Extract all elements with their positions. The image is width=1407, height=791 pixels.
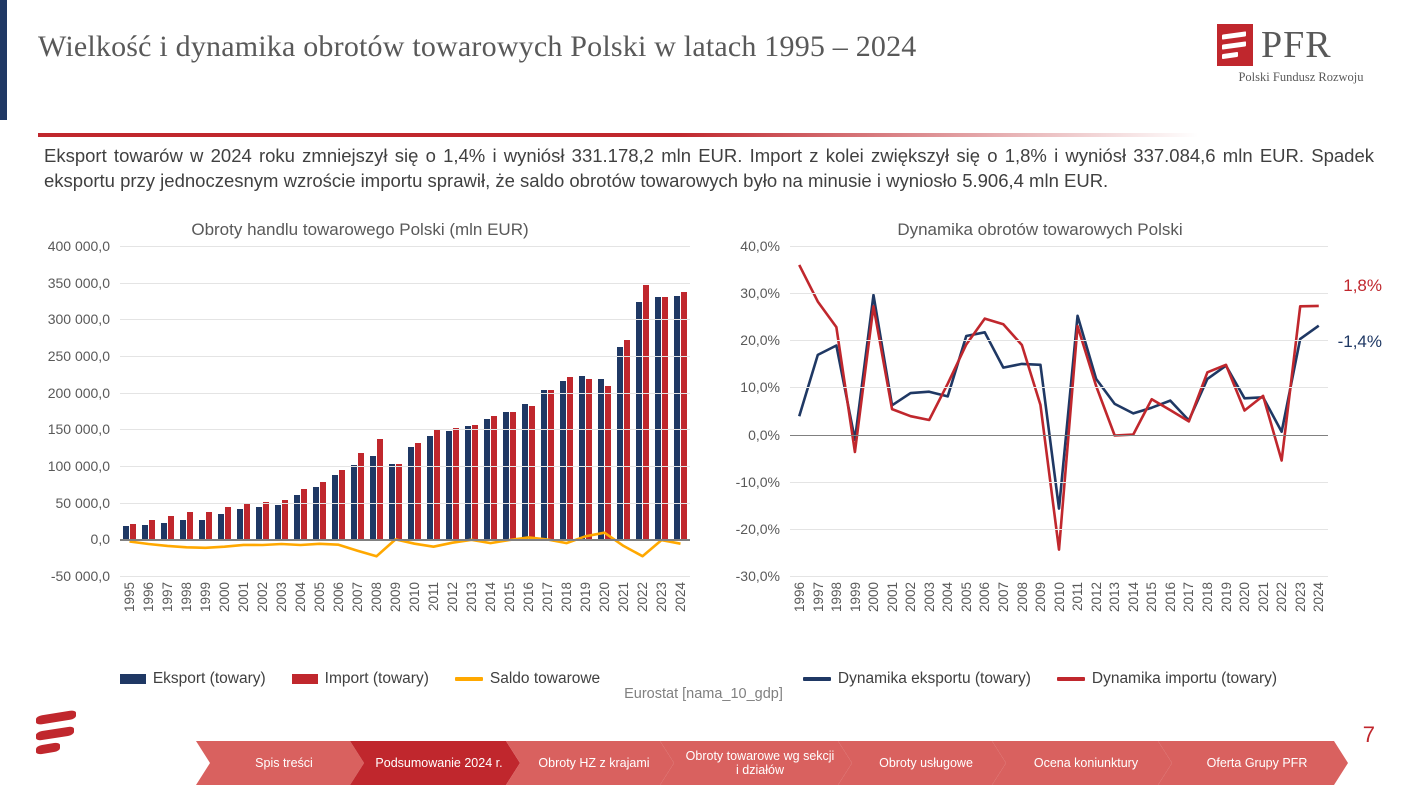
slide: Wielkość i dynamika obrotów towarowych P… (0, 0, 1407, 791)
pfr-logo-mark (1217, 24, 1253, 66)
nav-item-6[interactable]: Ocena koniunktury (992, 741, 1172, 785)
x-tick-label: 2014 (481, 582, 500, 656)
y-tick-label: 100 000,0 (48, 458, 110, 474)
gridline (120, 393, 690, 394)
pfr-logo: PFR Polski Fundusz Rozwoju (1217, 24, 1385, 88)
x-tick-label: 2006 (975, 582, 994, 656)
gridline (790, 246, 1328, 247)
x-tick-label: 1996 (139, 582, 158, 656)
chart-obroty-title: Obroty handlu towarowego Polski (mln EUR… (30, 218, 690, 242)
legend-swatch (803, 677, 831, 681)
x-tick-label: 2012 (1087, 582, 1106, 656)
x-tick-label: 2007 (348, 582, 367, 656)
x-tick-label: 2017 (538, 582, 557, 656)
gridline (120, 283, 690, 284)
nav-item-label: Oferta Grupy PFR (1207, 756, 1308, 770)
nav-item-3[interactable]: Obroty HZ z krajami (506, 741, 674, 785)
x-tick-label: 2008 (367, 582, 386, 656)
nav-item-label: Obroty HZ z krajami (538, 756, 649, 770)
y-tick-label: -30,0% (736, 568, 780, 584)
y-tick-label: 30,0% (740, 285, 780, 301)
x-tick-label: 2004 (291, 582, 310, 656)
x-tick-label: 1997 (158, 582, 177, 656)
x-tick-label: 2003 (272, 582, 291, 656)
x-tick-label: 2023 (1291, 582, 1310, 656)
gridline (120, 356, 690, 357)
x-tick-label: 1998 (827, 582, 846, 656)
x-tick-label: 2014 (1124, 582, 1143, 656)
page-number: 7 (1363, 722, 1375, 748)
x-tick-label: 2002 (253, 582, 272, 656)
header-divider (38, 133, 1198, 137)
x-tick-label: 2002 (901, 582, 920, 656)
x-tick-label: 2020 (595, 582, 614, 656)
chart-dynamika-title: Dynamika obrotów towarowych Polski (700, 218, 1380, 242)
page-title: Wielkość i dynamika obrotów towarowych P… (38, 30, 1188, 64)
x-tick-label: 2005 (310, 582, 329, 656)
y-tick-label: 50 000,0 (56, 495, 111, 511)
source-note: Eurostat [nama_10_gdp] (0, 686, 1407, 702)
x-tick-label: 2021 (1254, 582, 1273, 656)
pfr-logo-text: PFR (1261, 26, 1332, 64)
x-tick-label: 2021 (614, 582, 633, 656)
x-tick-label: 2024 (1309, 582, 1328, 656)
nav-item-label: Obroty usługowe (879, 756, 973, 770)
y-tick-label: 150 000,0 (48, 421, 110, 437)
x-tick-label: 2012 (443, 582, 462, 656)
chart-obroty: Obroty handlu towarowego Polski (mln EUR… (30, 218, 690, 678)
x-tick-label: 1995 (120, 582, 139, 656)
x-tick-label: 2020 (1235, 582, 1254, 656)
legend-swatch (1057, 677, 1085, 681)
x-tick-label: 2015 (500, 582, 519, 656)
y-tick-label: 10,0% (740, 379, 780, 395)
pfr-footer-mark-icon (34, 707, 78, 759)
nav-item-label: Podsumowanie 2024 r. (375, 756, 502, 770)
x-tick-label: 2022 (1272, 582, 1291, 656)
y-tick-label: 300 000,0 (48, 311, 110, 327)
x-tick-label: 1997 (809, 582, 828, 656)
legend-swatch (292, 674, 318, 684)
y-tick-label: 250 000,0 (48, 348, 110, 364)
chart-dynamika-plot: 1,8%-1,4% (790, 246, 1328, 576)
y-tick-label: -20,0% (736, 521, 780, 537)
chart-obroty-plot (120, 246, 690, 576)
x-tick-label: 2001 (234, 582, 253, 656)
x-tick-label: 2022 (633, 582, 652, 656)
gridline (790, 435, 1328, 436)
chart-dynamika: Dynamika obrotów towarowych Polski 40,0%… (700, 218, 1380, 678)
x-tick-label: 2023 (652, 582, 671, 656)
x-tick-label: 2006 (329, 582, 348, 656)
chart-dynamika-y-axis: 40,0%30,0%20,0%10,0%0,0%-10,0%-20,0%-30,… (700, 246, 786, 576)
x-tick-label: 1998 (177, 582, 196, 656)
gridline (120, 246, 690, 247)
x-tick-label: 2008 (1013, 582, 1032, 656)
gridline (120, 429, 690, 430)
x-tick-label: 2013 (462, 582, 481, 656)
x-tick-label: 2003 (920, 582, 939, 656)
x-tick-label: 2011 (424, 582, 443, 656)
gridline (120, 466, 690, 467)
gridline (790, 482, 1328, 483)
legend-swatch (455, 677, 483, 681)
gridline (790, 340, 1328, 341)
x-tick-label: 2001 (883, 582, 902, 656)
x-tick-label: 2018 (1198, 582, 1217, 656)
x-tick-label: 2010 (405, 582, 424, 656)
x-tick-label: 2013 (1105, 582, 1124, 656)
y-tick-label: 0,0 (91, 531, 110, 547)
nav-item-7[interactable]: Oferta Grupy PFR (1158, 741, 1348, 785)
nav-item-5[interactable]: Obroty usługowe (838, 741, 1006, 785)
x-tick-label: 2018 (557, 582, 576, 656)
x-tick-label: 2000 (864, 582, 883, 656)
x-tick-label: 2015 (1142, 582, 1161, 656)
data-label-export-dynamics: -1,4% (1338, 332, 1382, 352)
x-tick-label: 2004 (938, 582, 957, 656)
x-tick-label: 1996 (790, 582, 809, 656)
y-tick-label: 400 000,0 (48, 238, 110, 254)
y-tick-label: -50 000,0 (51, 568, 110, 584)
x-tick-label: 2005 (957, 582, 976, 656)
y-tick-label: 40,0% (740, 238, 780, 254)
nav-item-2[interactable]: Podsumowanie 2024 r. (350, 741, 520, 785)
x-tick-label: 2009 (1031, 582, 1050, 656)
nav-item-4[interactable]: Obroty towarowe wg sekcji i działów (660, 741, 852, 785)
x-tick-label: 2016 (1161, 582, 1180, 656)
x-tick-label: 2016 (519, 582, 538, 656)
legend-swatch (120, 674, 146, 684)
x-tick-label: 2017 (1179, 582, 1198, 656)
lead-paragraph: Eksport towarów w 2024 roku zmniejszył s… (44, 144, 1374, 194)
x-tick-label: 2007 (994, 582, 1013, 656)
line-saldo (130, 533, 681, 557)
nav-item-label: Ocena koniunktury (1034, 756, 1138, 770)
nav-item-label: Obroty towarowe wg sekcji i działów (684, 749, 836, 778)
nav-item-1[interactable]: Spis treści (196, 741, 364, 785)
gridline (790, 293, 1328, 294)
y-tick-label: 350 000,0 (48, 275, 110, 291)
x-tick-label: 2011 (1068, 582, 1087, 656)
chart-obroty-x-axis: 1995199619971998199920002001200220032004… (120, 582, 690, 656)
left-accent-bar (0, 0, 7, 120)
chart-obroty-y-axis: 400 000,0350 000,0300 000,0250 000,0200 … (30, 246, 116, 576)
y-tick-label: 200 000,0 (48, 385, 110, 401)
x-tick-label: 1999 (196, 582, 215, 656)
y-tick-label: 20,0% (740, 332, 780, 348)
chart-dynamika-x-axis: 1996199719981999200020012002200320042005… (790, 582, 1328, 656)
gridline (120, 503, 690, 504)
gridline (120, 576, 690, 577)
y-tick-label: -10,0% (736, 474, 780, 490)
data-label-import-dynamics: 1,8% (1343, 276, 1382, 296)
x-tick-label: 2019 (576, 582, 595, 656)
pfr-logo-subtitle: Polski Fundusz Rozwoju (1217, 70, 1385, 85)
nav-item-label: Spis treści (255, 756, 313, 770)
gridline (120, 539, 690, 540)
x-tick-label: 2019 (1217, 582, 1236, 656)
gridline (790, 387, 1328, 388)
x-tick-label: 2024 (671, 582, 690, 656)
gridline (790, 529, 1328, 530)
x-tick-label: 2000 (215, 582, 234, 656)
gridline (120, 319, 690, 320)
x-tick-label: 2009 (386, 582, 405, 656)
gridline (790, 576, 1328, 577)
y-tick-label: 0,0% (748, 427, 780, 443)
x-tick-label: 1999 (846, 582, 865, 656)
section-navigation[interactable]: Spis treściPodsumowanie 2024 r.Obroty HZ… (196, 741, 1348, 785)
x-tick-label: 2010 (1050, 582, 1069, 656)
